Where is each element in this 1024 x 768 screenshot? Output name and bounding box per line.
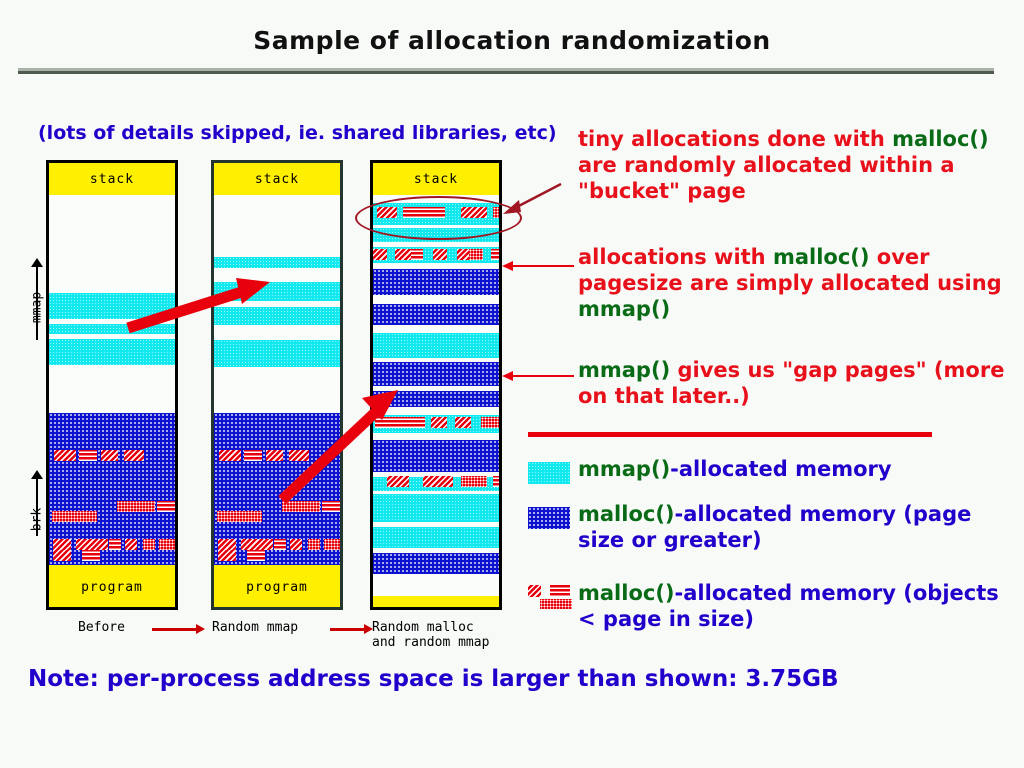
memory-band-blue [373, 304, 499, 325]
legend-swatch-malloc-subpage [528, 585, 572, 611]
header-rule-dark [18, 71, 994, 74]
small-allocation-block [473, 476, 487, 487]
small-allocation-block [493, 476, 502, 487]
small-allocation-block [247, 550, 265, 561]
small-allocation-block [82, 550, 100, 561]
small-allocation-block [53, 550, 71, 561]
small-allocation-block [117, 501, 155, 512]
small-allocation-block [411, 249, 423, 260]
legend-divider-rule [528, 432, 932, 437]
inline-code-text: malloc() [773, 245, 870, 269]
over-pagesize-pointer-arrow [512, 265, 574, 267]
small-allocation-block [491, 249, 502, 260]
memory-band-cyan [49, 339, 175, 365]
annotation-over-pagesize: allocations with malloc() over pagesize … [578, 244, 1018, 322]
inline-text: -allocated memory [670, 457, 891, 481]
small-allocation-block [244, 450, 262, 461]
inline-code-text: malloc() [892, 127, 989, 151]
small-allocation-block [217, 511, 262, 522]
annotation-tiny-allocations: tiny allocations done with malloc() are … [578, 126, 1018, 204]
random-mmap-to-random-malloc-arrow [270, 370, 410, 510]
memory-band-program: program [49, 565, 175, 610]
small-allocation-block [219, 450, 241, 461]
small-allocation-block [218, 550, 236, 561]
bucket-page-pointer-arrow [495, 180, 565, 216]
legend-obj-dots [540, 599, 572, 609]
small-allocation-block [423, 476, 453, 487]
legend-label-mmap-allocated: mmap()-allocated memory [578, 456, 1018, 482]
annotation-gap-pages: mmap() gives us "gap pages" (more on tha… [578, 357, 1018, 409]
small-allocation-block [54, 450, 76, 461]
inline-code-text: mmap() [578, 297, 670, 321]
inline-code-text: mmap() [578, 358, 670, 382]
legend-label-malloc-allocated-page: malloc()-allocated memory (page size or … [578, 501, 1018, 553]
small-allocation-block [395, 249, 411, 260]
memory-band-program: program [373, 596, 499, 610]
memory-band-white [373, 574, 499, 596]
small-allocation-block [159, 539, 178, 550]
legend-obj-hatch [528, 585, 541, 597]
memory-band-stack: stack [214, 163, 340, 195]
gap-pages-pointer-arrow [512, 375, 574, 377]
memory-band-white [373, 295, 499, 304]
small-allocation-block [53, 539, 71, 550]
legend-obj-grid [550, 585, 570, 597]
small-allocation-block [101, 450, 118, 461]
column-caption-random-malloc-and-mmap: Random malloc and random mmap [372, 620, 489, 650]
caption-arrow-mmap-to-malloc [330, 628, 365, 631]
small-allocation-block [124, 450, 144, 461]
page-title: Sample of allocation randomization [0, 26, 1024, 55]
small-allocation-block [431, 417, 447, 428]
small-allocation-block [433, 249, 447, 260]
small-allocation-block [481, 417, 502, 428]
memory-band-white [214, 195, 340, 257]
legend-swatch-mmap [528, 462, 570, 484]
small-allocation-block [373, 249, 387, 260]
inline-text: are randomly allocated within a "bucket"… [578, 153, 955, 203]
column-caption-before: Before [78, 620, 125, 635]
memory-band-cyan [214, 257, 340, 268]
legend-swatch-malloc-page [528, 507, 570, 529]
small-allocation-block [469, 249, 483, 260]
memory-column-before[interactable]: stackprogram [46, 160, 178, 610]
inline-code-text: mmap() [578, 457, 670, 481]
before-to-random-mmap-arrow [120, 270, 280, 340]
caption-arrow-before-to-mmap [152, 628, 197, 631]
mmap-axis-label: mmap [30, 278, 45, 338]
small-allocation-block [218, 539, 236, 550]
memory-band-cyan [214, 340, 340, 367]
memory-band-stack: stack [373, 163, 499, 195]
diagram-subtitle: (lots of details skipped, ie. shared lib… [38, 122, 557, 144]
small-allocation-block [79, 450, 97, 461]
small-allocation-block [308, 539, 320, 550]
memory-band-white [373, 325, 499, 333]
memory-band-white [49, 365, 175, 413]
small-allocation-block [457, 249, 469, 260]
small-allocation-block [241, 539, 273, 550]
inline-text: allocations with [578, 245, 773, 269]
small-allocation-block [324, 539, 343, 550]
memory-band-program: program [214, 565, 340, 610]
small-allocation-block [290, 539, 302, 550]
memory-band-blue [373, 269, 499, 295]
small-allocation-block [109, 539, 121, 550]
small-allocation-block [143, 539, 155, 550]
memory-band-blue [373, 553, 499, 574]
small-allocation-block [76, 539, 108, 550]
brk-axis-label: brk [30, 490, 45, 550]
small-allocation-block [157, 501, 178, 512]
inline-code-text: malloc() [578, 502, 675, 526]
small-allocation-block [455, 417, 471, 428]
small-allocation-block [125, 539, 137, 550]
legend-label-malloc-allocated-subpage: malloc()-allocated memory (objects < pag… [578, 580, 1018, 632]
memory-band-cyan [373, 527, 499, 548]
inline-text: tiny allocations done with [578, 127, 892, 151]
memory-band-cyan [373, 333, 499, 358]
inline-code-text: malloc() [578, 581, 675, 605]
memory-band-stack: stack [49, 163, 175, 195]
column-caption-random-mmap: Random mmap [212, 620, 298, 635]
small-allocation-block [274, 539, 286, 550]
small-allocation-block [52, 511, 97, 522]
bottom-note: Note: per-process address space is large… [28, 666, 839, 692]
